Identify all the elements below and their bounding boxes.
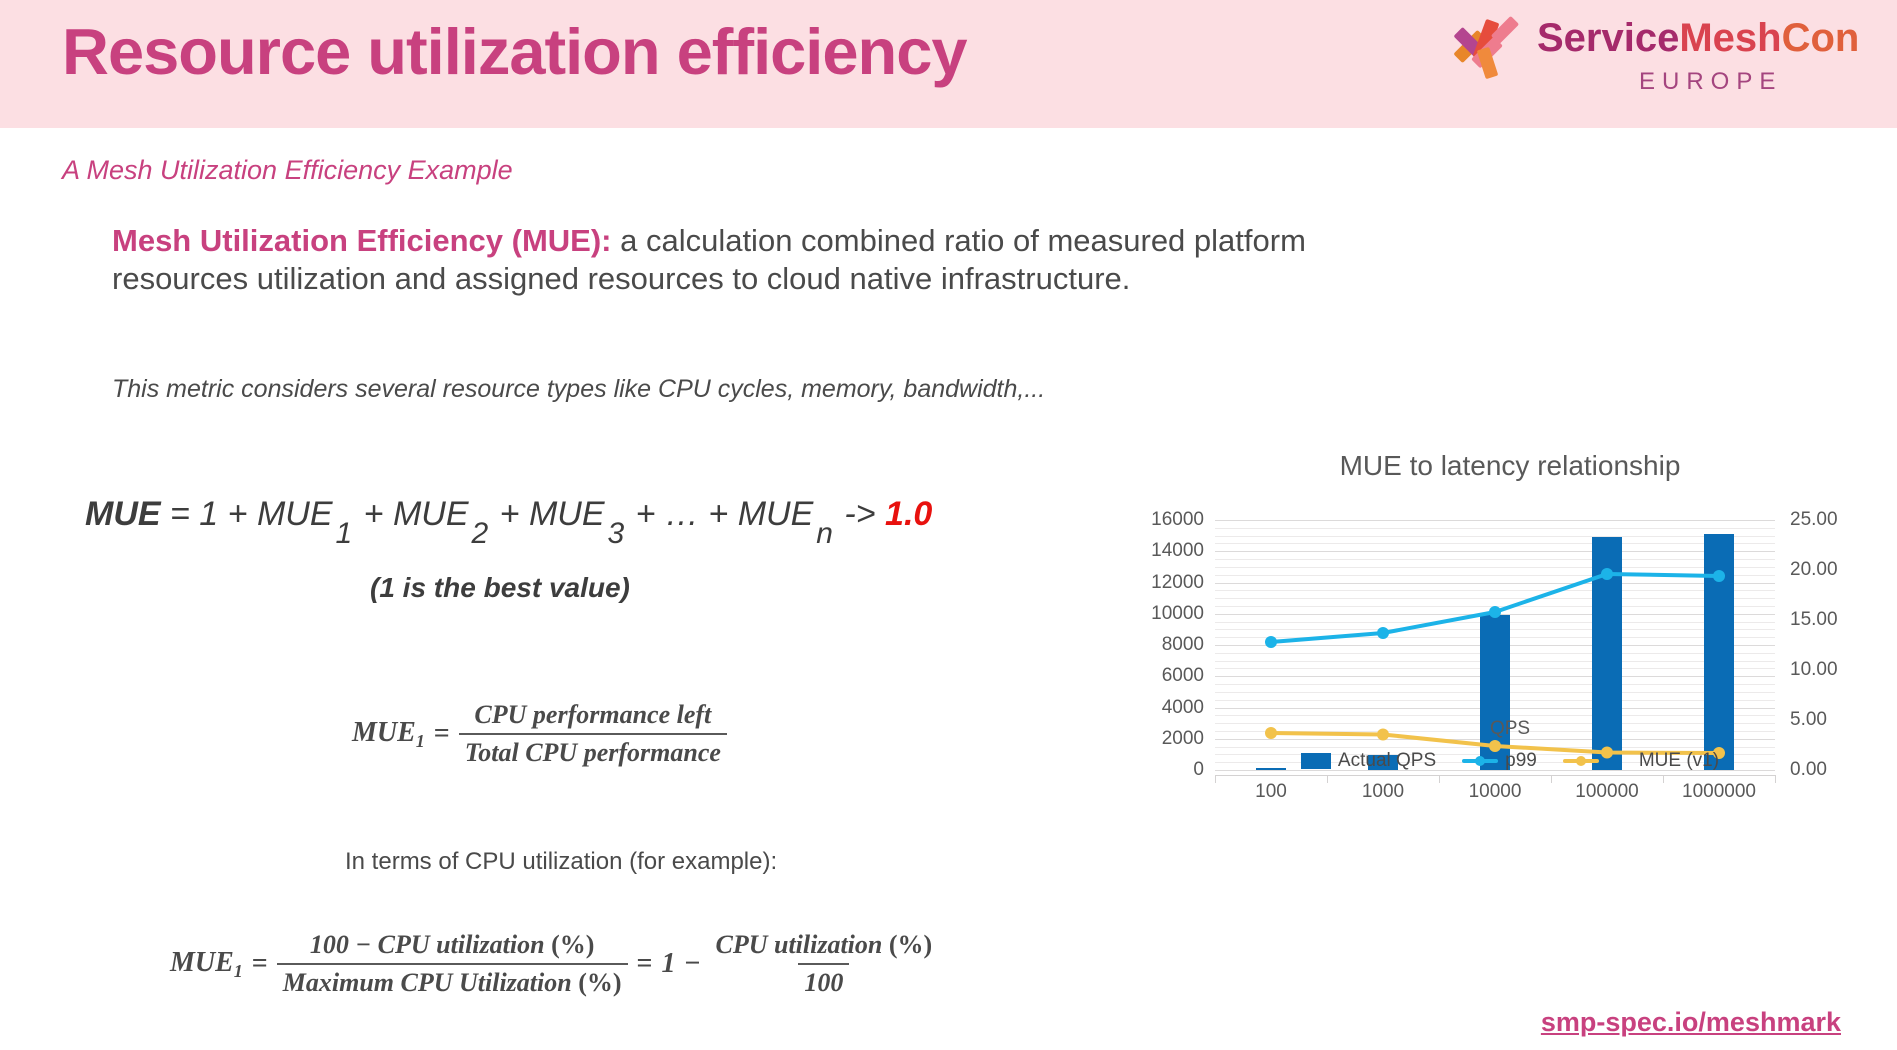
chart-y-tick-left: 6000 [1162, 665, 1204, 687]
chart-y-tick-left: 14000 [1151, 540, 1204, 562]
eq2-lhs: MUE1 [170, 947, 243, 982]
chart-data-point [1713, 570, 1725, 582]
chart-title: MUE to latency relationship [1130, 450, 1890, 482]
logo-wordmark: ServiceMeshCon [1537, 18, 1859, 58]
chart-x-tick-mark [1327, 775, 1328, 783]
eq1-denominator: Total CPU performance [459, 733, 727, 768]
eq2-num2-main: CPU utilization [715, 930, 882, 959]
chart-y-tick-left: 16000 [1151, 509, 1204, 531]
eq2-numerator-2: CPU utilization (%) [709, 930, 938, 963]
mue-sub-3: 3 [605, 517, 627, 550]
page-title: Resource utilization efficiency [62, 14, 967, 89]
chart-data-point [1377, 627, 1389, 639]
eq2-den1-main: Maximum CPU Utilization [283, 968, 572, 997]
chart-y-tick-right: 25.00 [1790, 509, 1838, 531]
chart-x-tick-mark [1775, 775, 1776, 783]
logo-diamond-mark-icon [1451, 14, 1529, 86]
mue-sub-1: 1 [333, 517, 355, 550]
legend-item-p99[interactable]: p99 [1462, 750, 1537, 772]
chart-x-tick-mark [1663, 775, 1664, 783]
equation-mue1-cpu-utilization: MUE1 = 100 − CPU utilization (%) Maximum… [170, 930, 938, 998]
mue-formula-plus2: + MUE [490, 495, 604, 533]
mue-series-formula: MUE = 1 + MUE1 + MUE2 + MUE3 + … + MUEn … [85, 495, 932, 551]
eq2-lhs-sub: 1 [234, 961, 243, 981]
chart-y-tick-left: 12000 [1151, 572, 1204, 594]
legend-label-p99: p99 [1505, 750, 1537, 772]
chart-x-axis-label: QPS [1130, 718, 1890, 740]
chart-x-tick: 1000 [1362, 781, 1404, 803]
mue-formula-eq: = 1 + MUE [161, 495, 333, 533]
chart-y-tick-right: 20.00 [1790, 559, 1838, 581]
mue-latency-chart: MUE to latency relationship 020004000600… [1130, 450, 1890, 790]
chart-x-tick: 100000 [1575, 781, 1638, 803]
best-value-note: (1 is the best value) [370, 572, 630, 604]
chart-x-tick-mark [1439, 775, 1440, 783]
chart-x-tick-mark [1551, 775, 1552, 783]
chart-data-point [1489, 606, 1501, 618]
eq2-equals-2: = [628, 948, 662, 980]
mue-sub-2: 2 [469, 517, 491, 550]
legend-swatch-bar-icon [1301, 753, 1331, 769]
chart-y-tick-right: 10.00 [1790, 659, 1838, 681]
eq1-numerator: CPU performance left [468, 700, 717, 733]
chart-y-tick-left: 8000 [1162, 634, 1204, 656]
spec-link[interactable]: smp-spec.io/meshmark [1541, 1007, 1841, 1038]
eq1-lhs: MUE1 [352, 717, 425, 752]
eq1-equals: = [425, 718, 459, 750]
equation-mue1-cpu-performance: MUE1 = CPU performance left Total CPU pe… [352, 700, 727, 768]
cpu-utilization-note: In terms of CPU utilization (for example… [345, 848, 777, 876]
logo-word-service: Service [1537, 16, 1679, 60]
eq1-lhs-text: MUE [352, 717, 416, 748]
eq1-lhs-sub: 1 [416, 731, 425, 751]
eq2-one: 1 [662, 948, 676, 980]
logo-word-mesh: Mesh [1679, 16, 1781, 60]
mue-formula-lhs: MUE [85, 495, 161, 533]
eq2-num2-percent: (%) [889, 930, 932, 959]
chart-y-tick-right: 15.00 [1790, 609, 1838, 631]
logo-word-con: Con [1782, 16, 1860, 60]
chart-x-tick: 10000 [1469, 781, 1522, 803]
eq2-num1-main: 100 − CPU utilization [310, 930, 545, 959]
eq2-num1-percent: (%) [551, 930, 594, 959]
legend-swatch-line-p99-icon [1462, 755, 1498, 767]
chart-legend: Actual QPS p99 MUE (v1) [1130, 750, 1890, 772]
legend-swatch-line-mue-icon [1563, 755, 1599, 767]
eq2-den1-percent: (%) [578, 968, 621, 997]
eq1-fraction: CPU performance left Total CPU performan… [459, 700, 727, 768]
chart-data-point [1601, 568, 1613, 580]
definition-lead: Mesh Utilization Efficiency (MUE): [112, 223, 611, 258]
section-subtitle: A Mesh Utilization Efficiency Example [62, 155, 513, 186]
eq2-numerator-1: 100 − CPU utilization (%) [304, 930, 600, 963]
mue-sub-n: n [813, 517, 835, 550]
eq2-denominator-2: 100 [798, 963, 849, 998]
legend-label-mue: MUE (v1) [1639, 750, 1719, 772]
chart-x-axis: 1001000100001000001000000 [1215, 775, 1775, 805]
chart-y-tick-left: 10000 [1151, 603, 1204, 625]
servicemeshcon-logo: ServiceMeshCon EUROPE [1451, 10, 1851, 110]
eq2-fraction-2: CPU utilization (%) 100 [709, 930, 938, 998]
chart-x-axis-line [1215, 775, 1776, 776]
metric-note: This metric considers several resource t… [112, 375, 1045, 404]
eq2-denominator-1: Maximum CPU Utilization (%) [277, 963, 628, 998]
eq2-lhs-text: MUE [170, 947, 234, 978]
definition-paragraph: Mesh Utilization Efficiency (MUE): a cal… [112, 222, 1402, 298]
chart-x-tick: 1000000 [1682, 781, 1756, 803]
eq2-equals-1: = [243, 948, 277, 980]
logo-subtitle: EUROPE [1639, 68, 1782, 96]
mue-formula-target: 1.0 [885, 495, 932, 533]
chart-x-tick: 100 [1255, 781, 1287, 803]
legend-item-actual-qps[interactable]: Actual QPS [1301, 750, 1436, 772]
chart-data-point [1265, 636, 1277, 648]
mue-formula-arrow: -> [835, 495, 885, 533]
eq2-fraction-1: 100 − CPU utilization (%) Maximum CPU Ut… [277, 930, 628, 998]
legend-label-actual-qps: Actual QPS [1338, 750, 1436, 772]
mue-formula-plus1: + MUE [354, 495, 468, 533]
chart-y-tick-left: 4000 [1162, 697, 1204, 719]
legend-item-mue[interactable]: MUE (v1) [1563, 750, 1719, 772]
eq2-minus: − [676, 948, 710, 980]
mue-formula-plus3: + … + MUE [626, 495, 813, 533]
chart-x-tick-mark [1215, 775, 1216, 783]
